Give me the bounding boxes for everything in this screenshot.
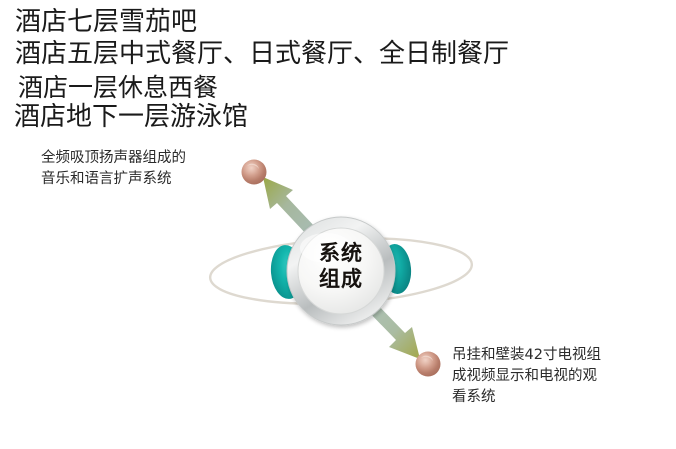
center-label-line-2: 组成 [302,266,380,292]
audio-annotation-line-2: 音乐和语言扩声系统 [41,169,186,190]
audio-annotation-line-1: 全频吸顶扬声器组成的 [41,148,186,169]
center-label-line-1: 系统 [302,240,380,266]
floor-list-line-1: 酒店七层雪茄吧 [15,7,197,37]
audio-node-sphere [242,160,267,185]
floor-list-line-3: 酒店一层休息西餐 [18,74,218,102]
floor-list-line-2: 酒店五层中式餐厅、日式餐厅、全日制餐厅 [15,39,509,69]
audio-node-annotation: 全频吸顶扬声器组成的 音乐和语言扩声系统 [41,148,186,190]
arrow-to-audio-node [263,177,317,236]
video-annotation-line-3: 看系统 [452,387,602,408]
video-annotation-line-2: 成视频显示和电视的观 [452,366,602,387]
video-node-annotation: 吊挂和壁装42寸电视组 成视频显示和电视的观 看系统 [452,345,602,408]
orbit-lobe-left [269,244,306,301]
center-label: 系统 组成 [302,240,380,292]
video-annotation-line-1: 吊挂和壁装42寸电视组 [452,345,602,366]
floor-list-line-4: 酒店地下一层游泳馆 [14,103,248,132]
arrow-to-video-node [363,299,420,359]
orbit-lobe-right [379,243,413,295]
slide-canvas: 酒店七层雪茄吧 酒店五层中式餐厅、日式餐厅、全日制餐厅 酒店一层休息西餐 酒店地… [0,0,676,449]
video-node-sphere [416,352,441,377]
